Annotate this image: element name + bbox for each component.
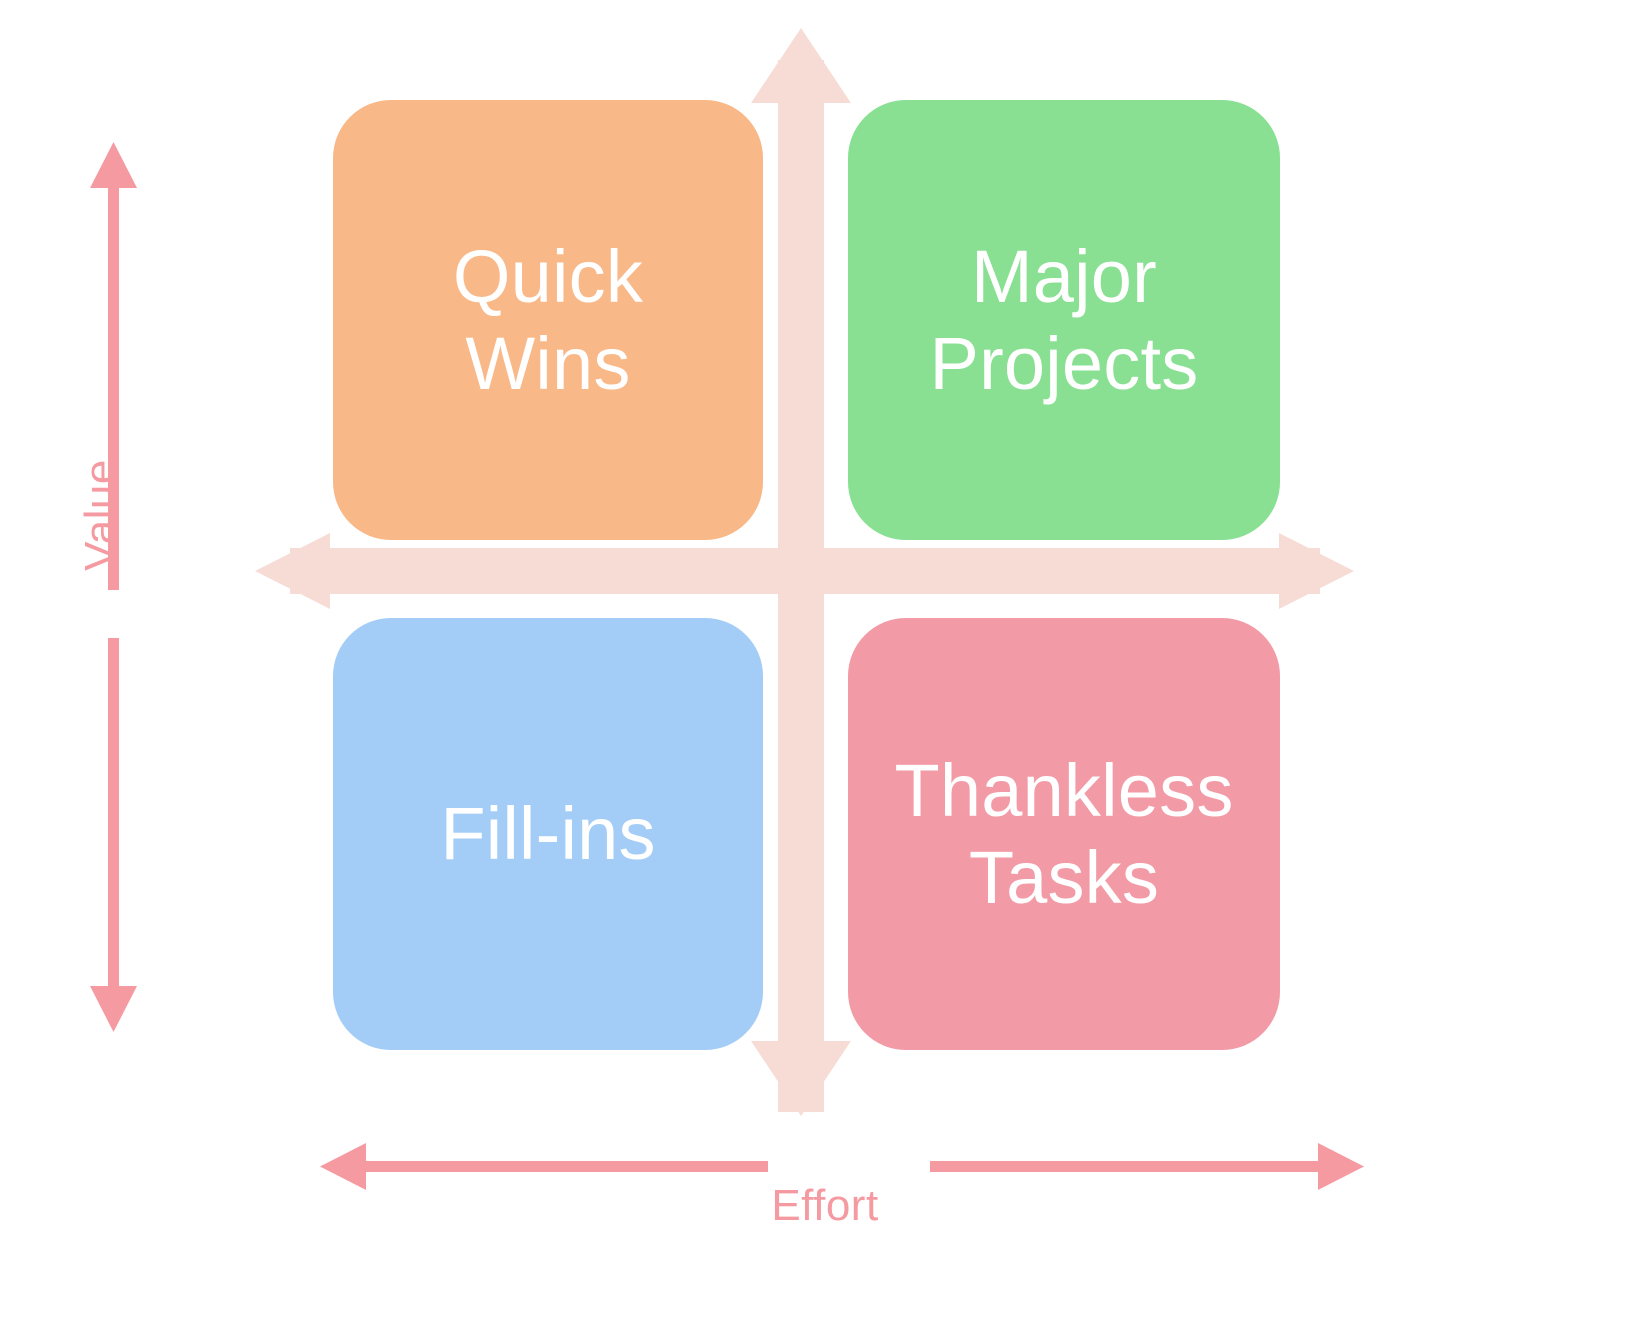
quadrant-quick-wins[interactable]: Quick Wins — [333, 100, 763, 540]
quadrant-fill-ins[interactable]: Fill-ins — [333, 618, 763, 1050]
quadrant-major-projects[interactable]: Major Projects — [848, 100, 1280, 540]
effort-axis-arrow — [0, 0, 1650, 1331]
quadrant-thankless-tasks[interactable]: Thankless Tasks — [848, 618, 1280, 1050]
horizontal-cross-arrow — [255, 533, 1354, 609]
vertical-cross-arrow — [751, 28, 851, 1116]
value-axis-arrow — [0, 0, 1650, 1331]
value-effort-matrix-diagram: Quick Wins Major Projects Fill-ins Thank… — [0, 0, 1650, 1331]
effort-axis-label: Effort — [675, 1181, 975, 1231]
value-axis-label: Value — [76, 405, 126, 625]
axis-cross-arrows — [0, 0, 1650, 1331]
